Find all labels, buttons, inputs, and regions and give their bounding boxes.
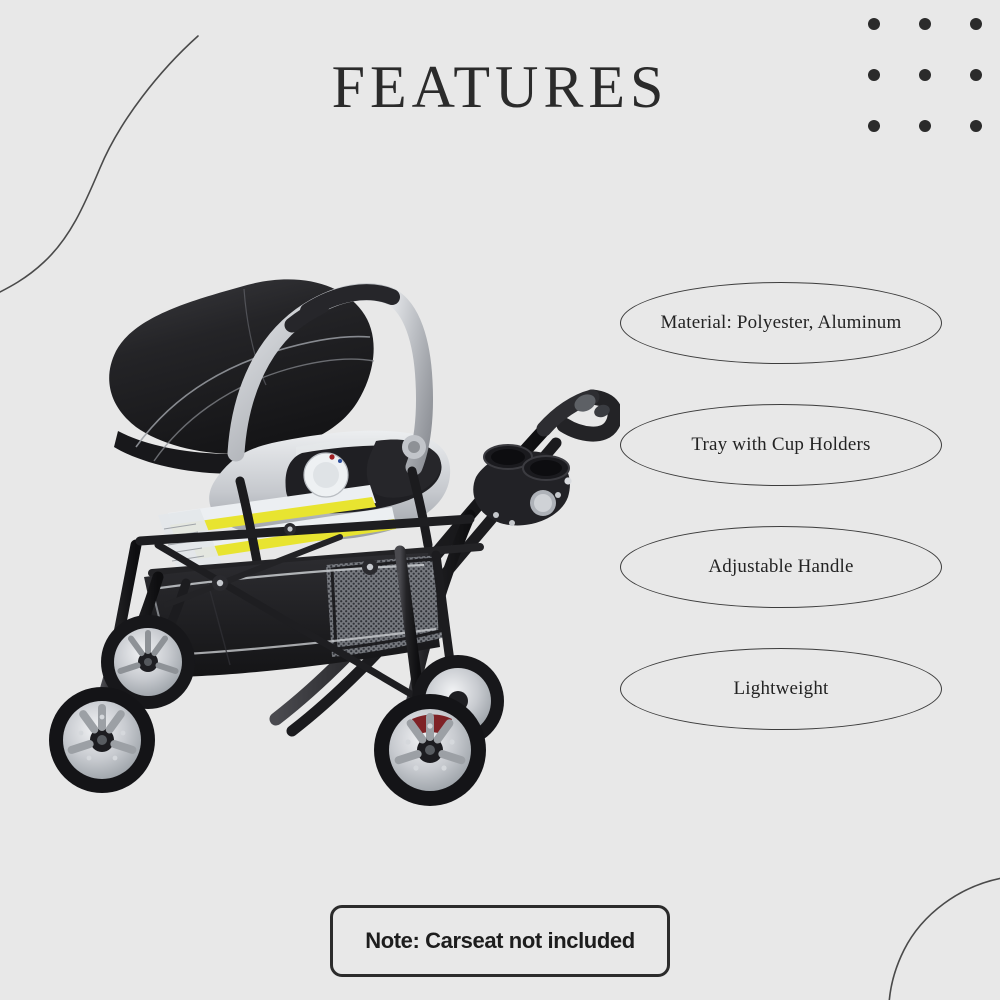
dot-icon — [868, 120, 880, 132]
dot-icon — [970, 18, 982, 30]
corner-arc-line-icon — [870, 870, 1000, 1000]
page-title: FEATURES — [0, 57, 1000, 117]
feature-label: Material: Polyester, Aluminum — [661, 312, 902, 334]
features-page: FEATURES — [0, 0, 1000, 1000]
feature-pill-tray[interactable]: Tray with Cup Holders — [620, 404, 942, 486]
product-image — [40, 185, 620, 825]
feature-pill-lightweight[interactable]: Lightweight — [620, 648, 942, 730]
dot-icon — [970, 120, 982, 132]
wheel-rear-outer — [49, 687, 155, 793]
wheel-front-outer — [374, 694, 486, 806]
feature-pill-handle[interactable]: Adjustable Handle — [620, 526, 942, 608]
feature-label: Adjustable Handle — [708, 556, 853, 578]
dot-icon — [919, 120, 931, 132]
feature-label: Tray with Cup Holders — [691, 434, 870, 456]
cup-holder-tray — [473, 445, 571, 526]
feature-list: Material: Polyester, Aluminum Tray with … — [620, 282, 950, 770]
feature-pill-material[interactable]: Material: Polyester, Aluminum — [620, 282, 942, 364]
note-box: Note: Carseat not included — [330, 905, 670, 977]
feature-label: Lightweight — [733, 678, 828, 700]
dot-icon — [868, 18, 880, 30]
dot-icon — [919, 18, 931, 30]
note-text: Note: Carseat not included — [365, 928, 635, 954]
